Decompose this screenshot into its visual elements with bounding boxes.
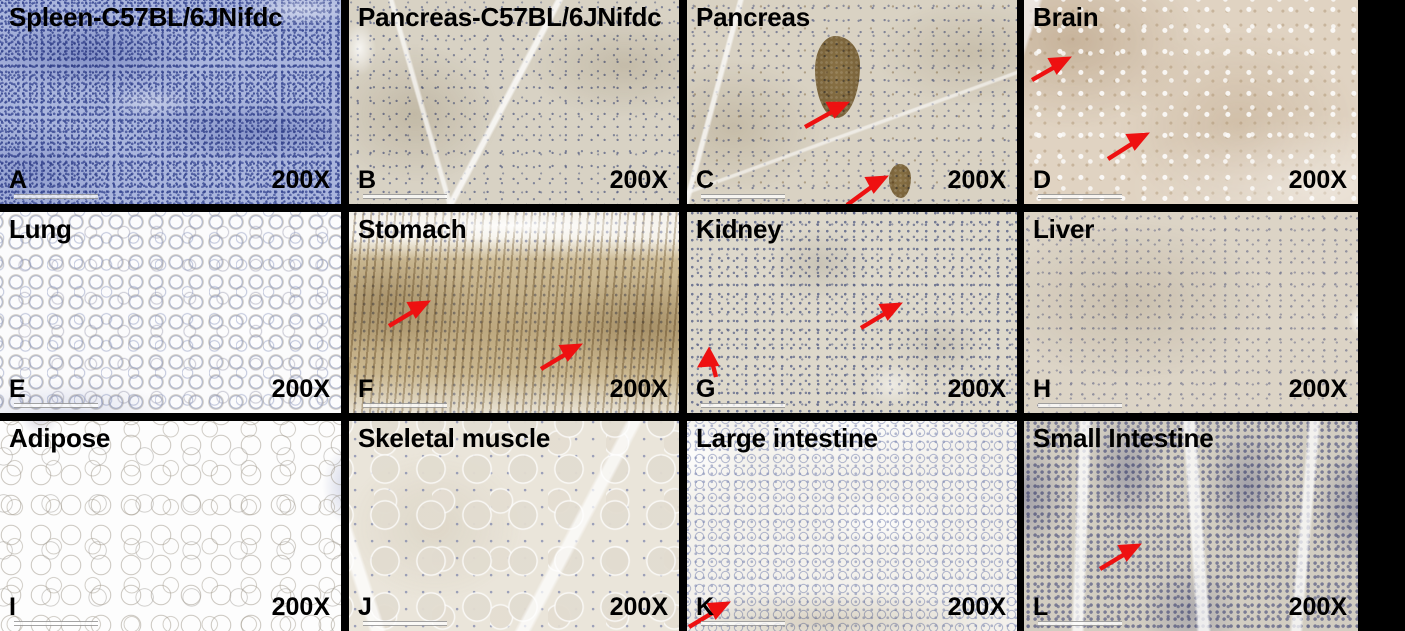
magnification-label: 200X [272, 377, 330, 402]
magnification-label: 200X [1289, 377, 1347, 402]
panel-l-small-intestine[interactable]: Small Intestine L 200X [1024, 421, 1358, 631]
panel-b-pancreas-control[interactable]: Pancreas-C57BL/6JNifdc B 200X [349, 0, 679, 204]
scale-bar [14, 621, 98, 626]
panel-letter: C [696, 168, 714, 193]
panel-letter: J [358, 595, 372, 620]
tissue-label: Spleen-C57BL/6JNifdc [9, 4, 282, 31]
scale-bar [1038, 621, 1122, 626]
tissue-label: Skeletal muscle [358, 425, 550, 452]
tissue-label: Small Intestine [1033, 425, 1214, 452]
panel-e-lung[interactable]: Lung E 200X [0, 212, 341, 413]
magnification-label: 200X [610, 595, 668, 620]
panel-c-pancreas[interactable]: Pancreas C 200X [687, 0, 1017, 204]
tissue-label: Liver [1033, 216, 1094, 243]
scale-bar [1038, 403, 1122, 408]
scale-bar [1038, 194, 1122, 199]
tissue-label: Pancreas-C57BL/6JNifdc [358, 4, 661, 31]
panel-i-adipose[interactable]: Adipose I 200X [0, 421, 341, 631]
panel-letter: D [1033, 168, 1051, 193]
panel-j-skeletal-muscle[interactable]: Skeletal muscle J 200X [349, 421, 679, 631]
scale-bar [363, 621, 447, 626]
panel-f-stomach[interactable]: Stomach F 200X [349, 212, 679, 413]
magnification-label: 200X [272, 168, 330, 193]
magnification-label: 200X [948, 377, 1006, 402]
magnification-label: 200X [272, 595, 330, 620]
panel-letter: I [9, 595, 16, 620]
tissue-label: Pancreas [696, 4, 810, 31]
panel-letter: B [358, 168, 376, 193]
tissue-label: Brain [1033, 4, 1098, 31]
panel-letter: E [9, 377, 26, 402]
tissue-label: Large intestine [696, 425, 878, 452]
magnification-label: 200X [610, 377, 668, 402]
tissue-label: Stomach [358, 216, 466, 243]
panel-a-spleen[interactable]: Spleen-C57BL/6JNifdc A 200X [0, 0, 341, 204]
panel-letter: A [9, 168, 27, 193]
panel-letter: F [358, 377, 373, 402]
panel-k-large-intestine[interactable]: Large intestine K 200X [687, 421, 1017, 631]
scale-bar [14, 194, 98, 199]
scale-bar [701, 194, 785, 199]
tissue-label: Lung [9, 216, 72, 243]
magnification-label: 200X [1289, 595, 1347, 620]
magnification-label: 200X [610, 168, 668, 193]
magnification-label: 200X [948, 168, 1006, 193]
figure-grid: Spleen-C57BL/6JNifdc A 200X Pancreas-C57… [0, 0, 1405, 631]
scale-bar [701, 621, 785, 626]
panel-letter: L [1033, 595, 1048, 620]
scale-bar [363, 403, 447, 408]
scale-bar [701, 403, 785, 408]
panel-g-kidney[interactable]: Kidney G 200X [687, 212, 1017, 413]
tissue-label: Adipose [9, 425, 110, 452]
panel-d-brain[interactable]: Brain D 200X [1024, 0, 1358, 204]
panel-letter: K [696, 595, 714, 620]
magnification-label: 200X [1289, 168, 1347, 193]
scale-bar [363, 194, 447, 199]
panel-letter: H [1033, 377, 1051, 402]
panel-h-liver[interactable]: Liver H 200X [1024, 212, 1358, 413]
magnification-label: 200X [948, 595, 1006, 620]
tissue-label: Kidney [696, 216, 781, 243]
panel-letter: G [696, 377, 715, 402]
scale-bar [14, 403, 98, 408]
